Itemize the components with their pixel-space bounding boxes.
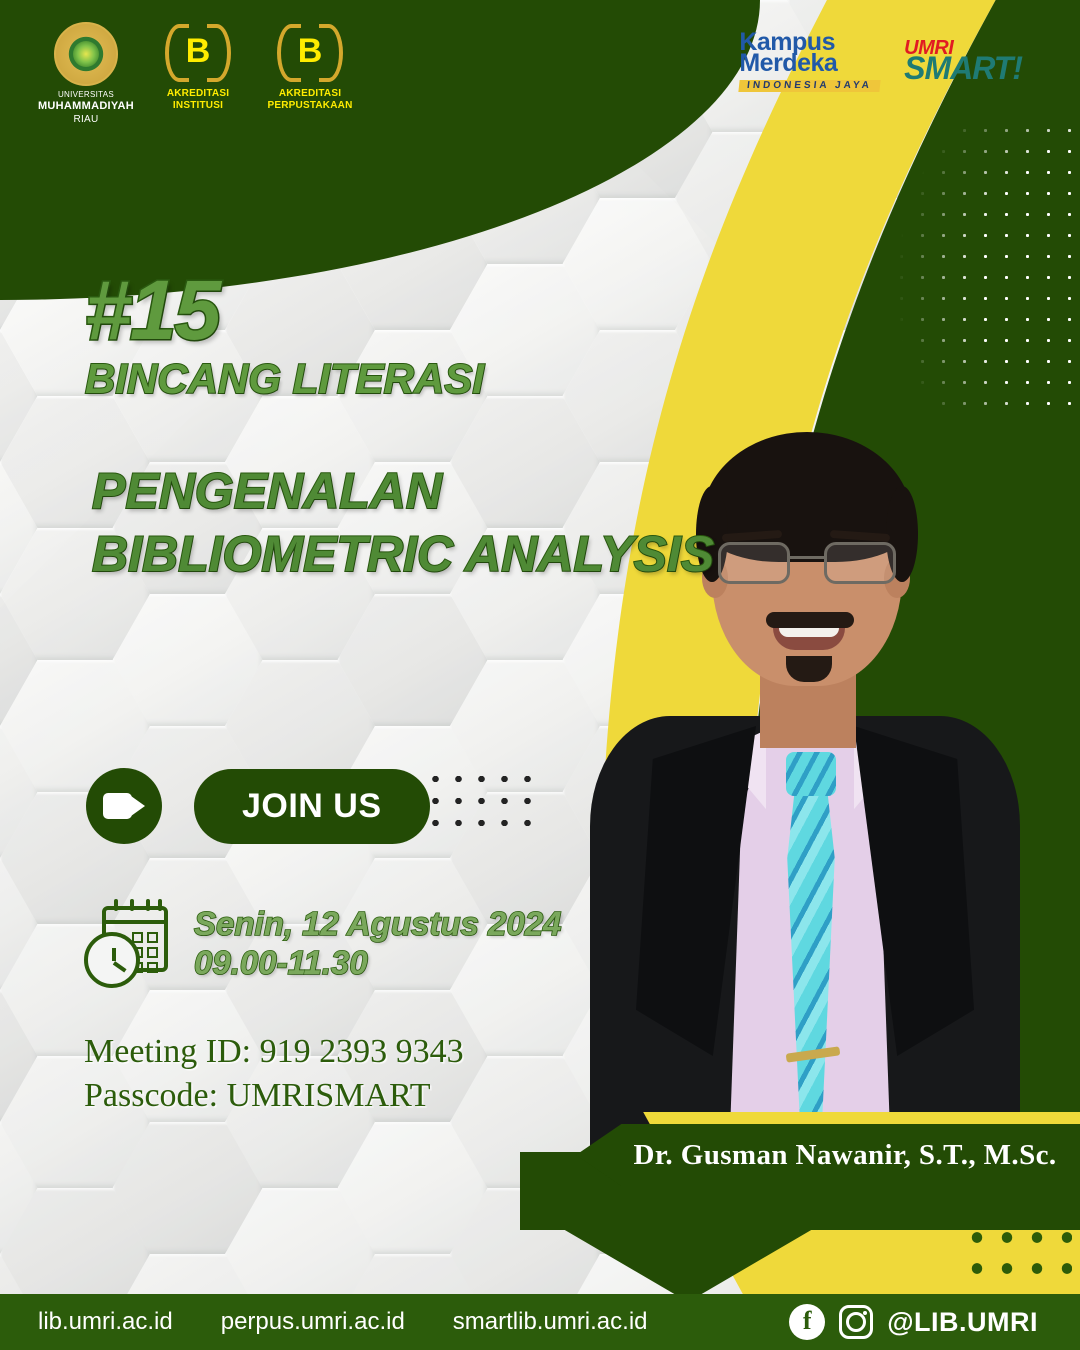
university-logo: UNIVERSITAS MUHAMMADIYAH RIAU (36, 22, 136, 126)
speaker-name: Dr. Gusman Nawanir, S.T., M.Sc. (599, 1139, 1056, 1172)
footer-social: @LIB.UMRI (789, 1304, 1038, 1340)
meeting-credentials: Meeting ID: 919 2393 9343 Passcode: UMRI… (84, 1030, 464, 1117)
page-title: PENGENALAN BIBLIOMETRIC ANALYSIS (92, 460, 792, 586)
calendar-header-bar (106, 920, 164, 924)
poster-canvas: UNIVERSITAS MUHAMMADIYAH RIAU B AKREDITA… (0, 0, 1080, 1350)
footer-links: lib.umri.ac.id perpus.umri.ac.id smartli… (38, 1308, 648, 1336)
calendar-ring (114, 899, 118, 911)
date-time-row: Senin, 12 Agustus 2024 09.00-11.30 (80, 898, 561, 990)
accr-inst-line1: AKREDITASI (167, 88, 229, 99)
umri-smart-line2: SMART! (904, 52, 1022, 84)
muhammadiyah-seal-icon (54, 22, 118, 86)
accr-perp-line1: AKREDITASI (279, 88, 341, 99)
header-logos-left: UNIVERSITAS MUHAMMADIYAH RIAU B AKREDITA… (36, 22, 360, 126)
calendar-day (147, 932, 158, 943)
kampus-merdeka-ribbon: INDONESIA JAYA (739, 80, 881, 92)
camera-glyph (103, 793, 145, 819)
footer-bar: lib.umri.ac.id perpus.umri.ac.id smartli… (0, 1294, 1080, 1350)
event-time: 09.00-11.30 (194, 944, 561, 983)
wreath-right-leaf (319, 24, 343, 82)
laurel-wreath-icon: B (275, 22, 345, 86)
title-line-2: BIBLIOMETRIC ANALYSIS (92, 523, 792, 586)
calendar-ring (158, 899, 162, 911)
accreditation-institusi: B AKREDITASI INSTITUSI (148, 22, 248, 112)
accreditation-perpustakaan: B AKREDITASI PERPUSTAKAAN (260, 22, 360, 112)
social-handle: @LIB.UMRI (887, 1307, 1038, 1338)
accr-inst-line2: INSTITUSI (173, 100, 223, 111)
umri-smart-logo: UMRI SMART! (904, 38, 1022, 84)
meeting-passcode: Passcode: UMRISMART (84, 1074, 464, 1118)
video-camera-icon[interactable] (86, 768, 162, 844)
clock-hour-hand (112, 948, 116, 960)
university-line2: MUHAMMADIYAH (36, 100, 136, 114)
series-name: BINCANG LITERASI (85, 358, 484, 400)
glasses-lens-right (824, 542, 896, 584)
laurel-wreath-icon: B (163, 22, 233, 86)
footer-link-smartlib[interactable]: smartlib.umri.ac.id (453, 1308, 648, 1336)
camera-lens (131, 796, 145, 816)
accr-perp-line2: PERPUSTAKAAN (268, 100, 353, 111)
header-logos-right: Kampus Merdeka INDONESIA JAYA UMRI SMART… (739, 30, 1022, 92)
camera-body (103, 793, 132, 819)
wreath-right-leaf (207, 24, 231, 82)
footer-link-perpus[interactable]: perpus.umri.ac.id (221, 1308, 405, 1336)
accreditation-perpus-text: AKREDITASI PERPUSTAKAAN (260, 88, 360, 112)
accreditation-institusi-text: AKREDITASI INSTITUSI (148, 88, 248, 112)
accreditation-grade: B (186, 34, 211, 68)
university-line1: UNIVERSITAS (36, 90, 136, 100)
speaker-tie-knot (786, 752, 836, 796)
clock-icon (84, 932, 140, 988)
instagram-icon[interactable] (839, 1305, 873, 1339)
meeting-id: Meeting ID: 919 2393 9343 (84, 1030, 464, 1074)
speaker-name-banner: Dr. Gusman Nawanir, S.T., M.Sc. (576, 1124, 1080, 1186)
speaker-beard (786, 656, 832, 682)
event-date: Senin, 12 Agustus 2024 (194, 905, 561, 944)
calendar-clock-icon (80, 898, 172, 990)
calendar-day (147, 947, 158, 958)
kampus-merdeka-line2: Merdeka (739, 51, 880, 76)
speaker-mouth (773, 628, 845, 650)
join-us-button[interactable]: JOIN US (194, 769, 430, 844)
facebook-icon[interactable] (789, 1304, 825, 1340)
join-row: JOIN US (86, 768, 430, 844)
calendar-day (147, 962, 158, 973)
green-dot-grid (962, 1222, 1072, 1302)
event-datetime: Senin, 12 Agustus 2024 09.00-11.30 (194, 905, 561, 983)
dark-dot-grid (424, 768, 542, 840)
footer-link-lib[interactable]: lib.umri.ac.id (38, 1308, 173, 1336)
calendar-ring (130, 899, 134, 911)
episode-number: #15 (85, 268, 219, 352)
accreditation-grade: B (298, 34, 323, 68)
kampus-merdeka-logo: Kampus Merdeka INDONESIA JAYA (739, 30, 880, 92)
clock-minute-hand (113, 960, 127, 971)
university-line3: RIAU (36, 114, 136, 127)
calendar-ring (146, 899, 150, 911)
white-halftone-dots (870, 120, 1080, 420)
title-line-1: PENGENALAN (92, 460, 792, 523)
glasses-bridge (790, 556, 824, 559)
university-logo-text: UNIVERSITAS MUHAMMADIYAH RIAU (36, 90, 136, 126)
speaker-moustache (766, 612, 854, 628)
